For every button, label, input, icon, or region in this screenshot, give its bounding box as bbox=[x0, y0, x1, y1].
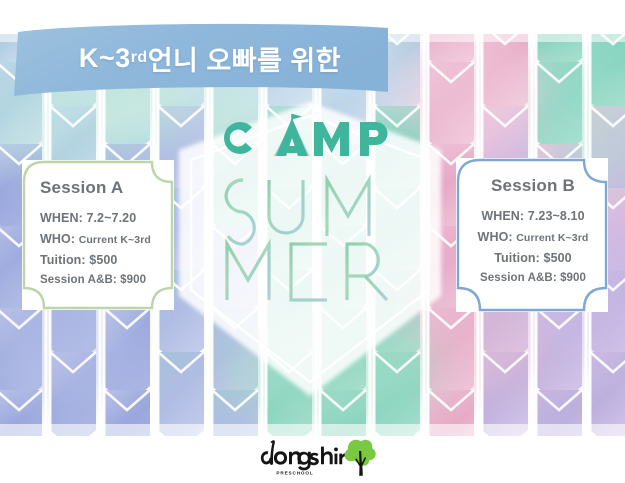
session-b-tuition: Tuition: $500 bbox=[474, 251, 592, 265]
summer-wordmark bbox=[195, 168, 425, 308]
combo-value: $900 bbox=[560, 272, 586, 284]
camp-summer-logo bbox=[175, 100, 445, 400]
who-label: WHO: bbox=[40, 232, 75, 246]
tuition-value: $500 bbox=[544, 251, 572, 265]
session-b-title: Session B bbox=[474, 176, 592, 196]
camp-wordmark bbox=[210, 110, 410, 166]
when-value: 7.2~7.20 bbox=[86, 211, 136, 225]
headline-text: K~3rd 언니 오빠를 위한 bbox=[12, 22, 394, 98]
headline-ordinal: rd bbox=[131, 49, 148, 67]
dongshin-wordmark: PRESCHOOL bbox=[255, 437, 345, 479]
headline-korean: 언니 오빠를 위한 bbox=[148, 39, 341, 78]
session-a-tuition: Tuition: $500 bbox=[40, 253, 158, 267]
brand-subtitle: PRESCHOOL bbox=[276, 471, 313, 476]
combo-label: Session A&B: bbox=[480, 272, 557, 284]
session-a-combo: Session A&B: $900 bbox=[40, 274, 158, 286]
flag-icon bbox=[293, 114, 302, 119]
session-b-card[interactable]: Session B WHEN: 7.23~8.10 WHO: Current K… bbox=[456, 158, 608, 312]
session-a-card[interactable]: Session A WHEN: 7.2~7.20 WHO: Current K~… bbox=[22, 160, 174, 310]
tent-icon bbox=[274, 114, 310, 156]
session-b-when: WHEN: 7.23~8.10 bbox=[474, 209, 592, 223]
who-value: Current K~3rd bbox=[79, 234, 151, 246]
camp-letters bbox=[224, 114, 388, 156]
who-label: WHO: bbox=[478, 230, 513, 244]
combo-label: Session A&B: bbox=[40, 274, 117, 286]
session-a-who: WHO: Current K~3rd bbox=[40, 232, 158, 246]
tuition-label: Tuition: bbox=[40, 253, 86, 267]
session-b-combo: Session A&B: $900 bbox=[474, 272, 592, 284]
session-b-who: WHO: Current K~3rd bbox=[474, 230, 592, 244]
headline-grade: K~3 bbox=[79, 43, 131, 74]
dongshin-preschool-logo: PRESCHOOL bbox=[255, 437, 375, 479]
flag-icon bbox=[291, 114, 293, 128]
when-label: WHEN: bbox=[40, 211, 83, 225]
tree-icon bbox=[343, 437, 377, 477]
summer-outline-letters bbox=[226, 180, 387, 300]
brand-letters bbox=[261, 440, 345, 470]
when-value: 7.23~8.10 bbox=[528, 209, 585, 223]
session-a-title: Session A bbox=[40, 178, 158, 198]
who-value: Current K~3rd bbox=[516, 232, 588, 244]
session-a-when: WHEN: 7.2~7.20 bbox=[40, 211, 158, 225]
tuition-label: Tuition: bbox=[494, 251, 540, 265]
poster-canvas: K~3rd 언니 오빠를 위한 Session A WHEN: 7.2~7.20… bbox=[0, 0, 625, 483]
when-label: WHEN: bbox=[481, 209, 524, 223]
combo-value: $900 bbox=[120, 274, 146, 286]
tuition-value: $500 bbox=[89, 253, 117, 267]
